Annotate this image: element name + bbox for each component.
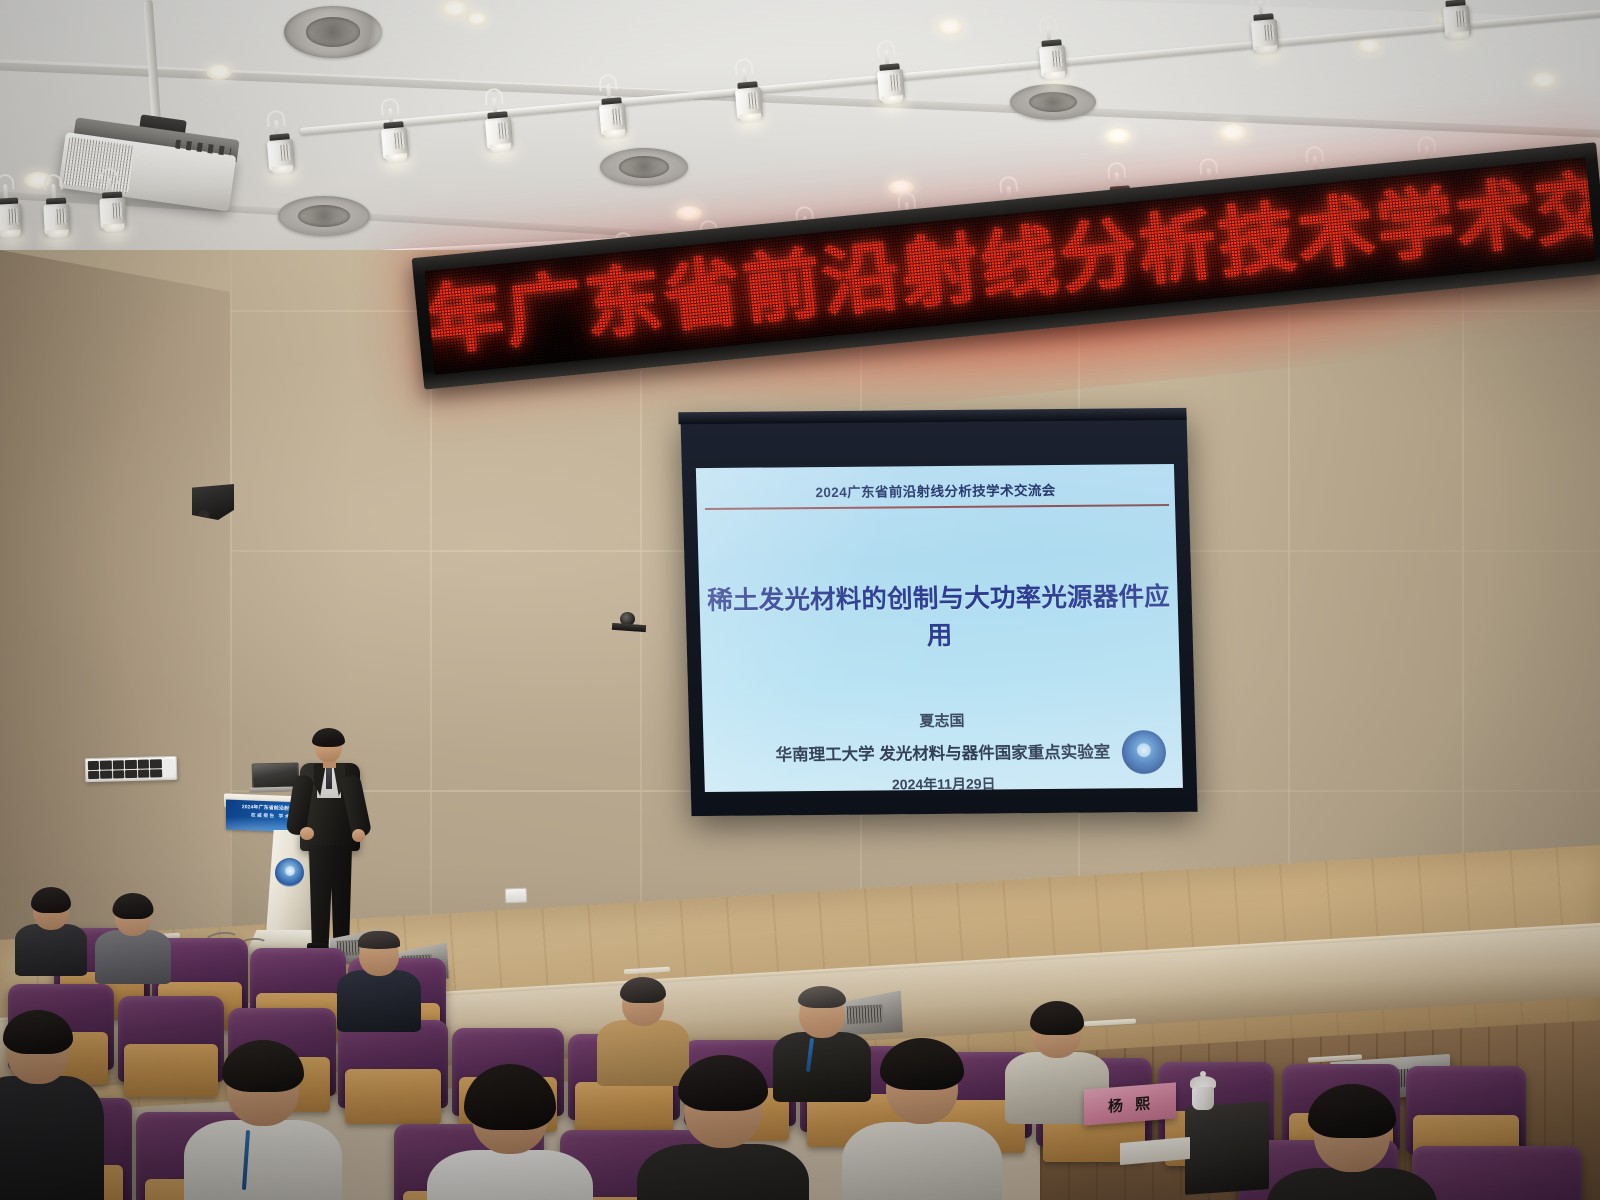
slide-header-text: 2024广东省前沿射线分析技学术交流会 xyxy=(696,478,1175,502)
name-card-char-1: 杨 xyxy=(1108,1094,1125,1116)
lidded-teacup-icon xyxy=(1190,1076,1216,1110)
track-spotlight-icon xyxy=(380,119,410,165)
slide-affiliation-text: 华南理工大学 发光材料与器件国家重点实验室 xyxy=(703,738,1182,766)
track-spotlight-icon xyxy=(266,131,296,177)
audience-member xyxy=(344,932,414,1022)
recessed-downlight-icon xyxy=(206,64,232,80)
ceiling-air-diffuser-icon xyxy=(278,196,370,236)
scut-university-seal-icon xyxy=(1121,730,1166,774)
auditorium-seat xyxy=(338,1020,448,1108)
wall-camera-icon xyxy=(612,612,646,638)
projection-screen: 2024广东省前沿射线分析技学术交流会 稀土发光材料的创制与大功率光源器件应用 … xyxy=(680,412,1197,816)
audience-member xyxy=(782,988,862,1088)
ceiling-air-diffuser-icon xyxy=(284,6,382,58)
audience-member xyxy=(208,1048,318,1200)
presenter-person xyxy=(286,731,372,956)
auditorium-seat xyxy=(1406,1066,1526,1154)
wall-outlet-icon xyxy=(505,888,528,904)
track-spotlight-icon xyxy=(876,61,906,107)
recessed-downlight-icon xyxy=(466,12,488,26)
side-table xyxy=(1185,1101,1269,1195)
recessed-downlight-icon xyxy=(676,206,702,221)
recessed-downlight-icon xyxy=(1530,72,1558,89)
audience-member xyxy=(0,1016,86,1200)
slide-divider-rule xyxy=(705,504,1169,510)
track-spotlight-icon xyxy=(0,195,23,240)
recessed-downlight-icon xyxy=(440,0,470,18)
light-switch-panel-icon[interactable] xyxy=(85,756,178,782)
audience-member xyxy=(606,980,680,1076)
track-spotlight-icon xyxy=(1442,0,1472,43)
audience-member xyxy=(664,1064,782,1200)
track-spotlight-icon xyxy=(1250,11,1280,57)
recessed-downlight-icon xyxy=(1356,38,1382,54)
audience-member xyxy=(1292,1092,1412,1200)
name-card: 杨 熙 xyxy=(1084,1082,1176,1125)
recessed-downlight-icon xyxy=(1218,124,1248,142)
audience-member xyxy=(100,896,166,976)
recessed-downlight-icon xyxy=(1104,128,1132,145)
auditorium-seat xyxy=(1412,1146,1582,1200)
ceiling-air-diffuser-icon xyxy=(600,148,688,186)
slide-author-text: 夏志国 xyxy=(703,708,1182,733)
slide-title-text: 稀土发光材料的创制与大功率光源器件应用 xyxy=(705,576,1173,654)
track-spotlight-icon xyxy=(484,109,514,155)
recessed-downlight-icon xyxy=(936,18,964,36)
audience-member xyxy=(866,1046,978,1200)
track-spotlight-icon xyxy=(734,79,764,125)
track-spotlight-icon xyxy=(43,195,71,240)
audience-member xyxy=(18,890,84,970)
presentation-slide: 2024广东省前沿射线分析技学术交流会 稀土发光材料的创制与大功率光源器件应用 … xyxy=(696,464,1183,792)
name-card-char-2: 熙 xyxy=(1135,1092,1152,1114)
audience-member xyxy=(452,1072,568,1200)
track-spotlight-icon xyxy=(598,95,628,141)
track-spotlight-icon xyxy=(99,189,127,234)
track-spotlight-icon xyxy=(1038,37,1068,83)
conference-hall-photo: 2024年广东省前沿射线分析技术学术交流会 2024广东省前沿射线分析技学术交流… xyxy=(0,0,1600,1200)
ceiling-air-diffuser-icon xyxy=(1010,84,1096,120)
